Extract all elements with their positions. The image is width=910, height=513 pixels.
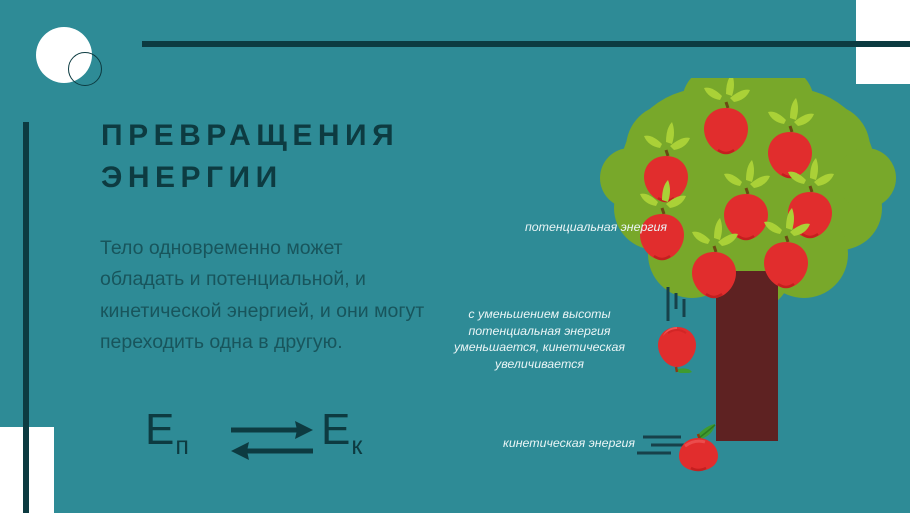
decorative-vertical-rule [23,122,29,513]
slide-canvas: ПРЕВРАЩЕНИЯ ЭНЕРГИИ Тело одновременно мо… [0,0,910,513]
apple-tree-illustration [600,78,910,478]
double-arrow-icon [229,418,315,470]
falling-apple-icon [656,325,698,373]
formula-term-kinetic-symbol: E [321,405,350,454]
formula-term-kinetic-subscript: к [351,432,362,460]
formula-term-potential-symbol: E [145,405,174,454]
annotation-potential-energy: потенциальная энергия [452,219,667,236]
formula-term-potential: Eп [145,408,189,459]
formula-term-potential-subscript: п [175,432,189,460]
decorative-horizontal-rule [142,41,910,47]
slide-title-line-1: ПРЕВРАЩЕНИЯ [101,119,399,152]
slide-title: ПРЕВРАЩЕНИЯ ЭНЕРГИИ [101,115,501,199]
energy-formula: Eп Eк [145,404,405,474]
annotation-height-decrease: с уменьшением высоты потенциальная энерг… [422,306,657,372]
formula-term-kinetic: Eк [321,408,362,459]
slide-body-text: Тело одновременно может обладать и потен… [100,233,430,359]
annotation-kinetic-energy: кинетическая энергия [440,435,635,452]
tree-trunk-icon [716,271,778,441]
slide-title-line-2: ЭНЕРГИИ [101,157,501,199]
vertical-motion-lines-icon [664,287,690,325]
rolling-apple-icon [677,424,721,472]
decorative-outline-circle [68,52,102,86]
